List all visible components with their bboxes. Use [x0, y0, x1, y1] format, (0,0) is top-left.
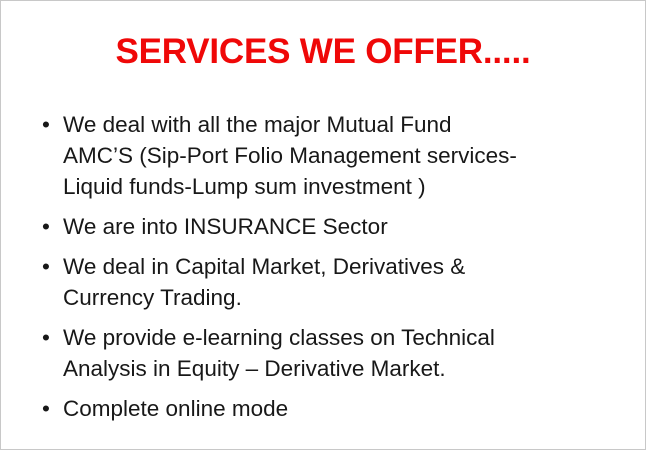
bullet-point-icon: •	[42, 393, 60, 424]
bullet-point-icon: •	[42, 211, 60, 242]
bullet-point-icon: •	[42, 109, 60, 140]
list-item-text: Complete online mode	[63, 393, 623, 424]
list-item-text: We deal in Capital Market, Derivatives &…	[63, 251, 623, 313]
list-item: • We are into INSURANCE Sector	[35, 211, 623, 242]
list-item: • We deal with all the major Mutual Fund…	[35, 109, 623, 202]
list-item-text: We deal with all the major Mutual Fund A…	[63, 109, 623, 202]
list-item-text: We provide e-learning classes on Technic…	[63, 322, 623, 384]
list-item: • We deal in Capital Market, Derivatives…	[35, 251, 623, 313]
slide-title: SERVICES WE OFFER.....	[1, 31, 645, 73]
presentation-slide: SERVICES WE OFFER..... • We deal with al…	[0, 0, 646, 450]
bullet-point-icon: •	[42, 322, 60, 353]
services-bullet-list: • We deal with all the major Mutual Fund…	[35, 109, 623, 424]
list-item-text: We are into INSURANCE Sector	[63, 211, 623, 242]
bullet-point-icon: •	[42, 251, 60, 282]
list-item: • We provide e-learning classes on Techn…	[35, 322, 623, 384]
list-item: • Complete online mode	[35, 393, 623, 424]
